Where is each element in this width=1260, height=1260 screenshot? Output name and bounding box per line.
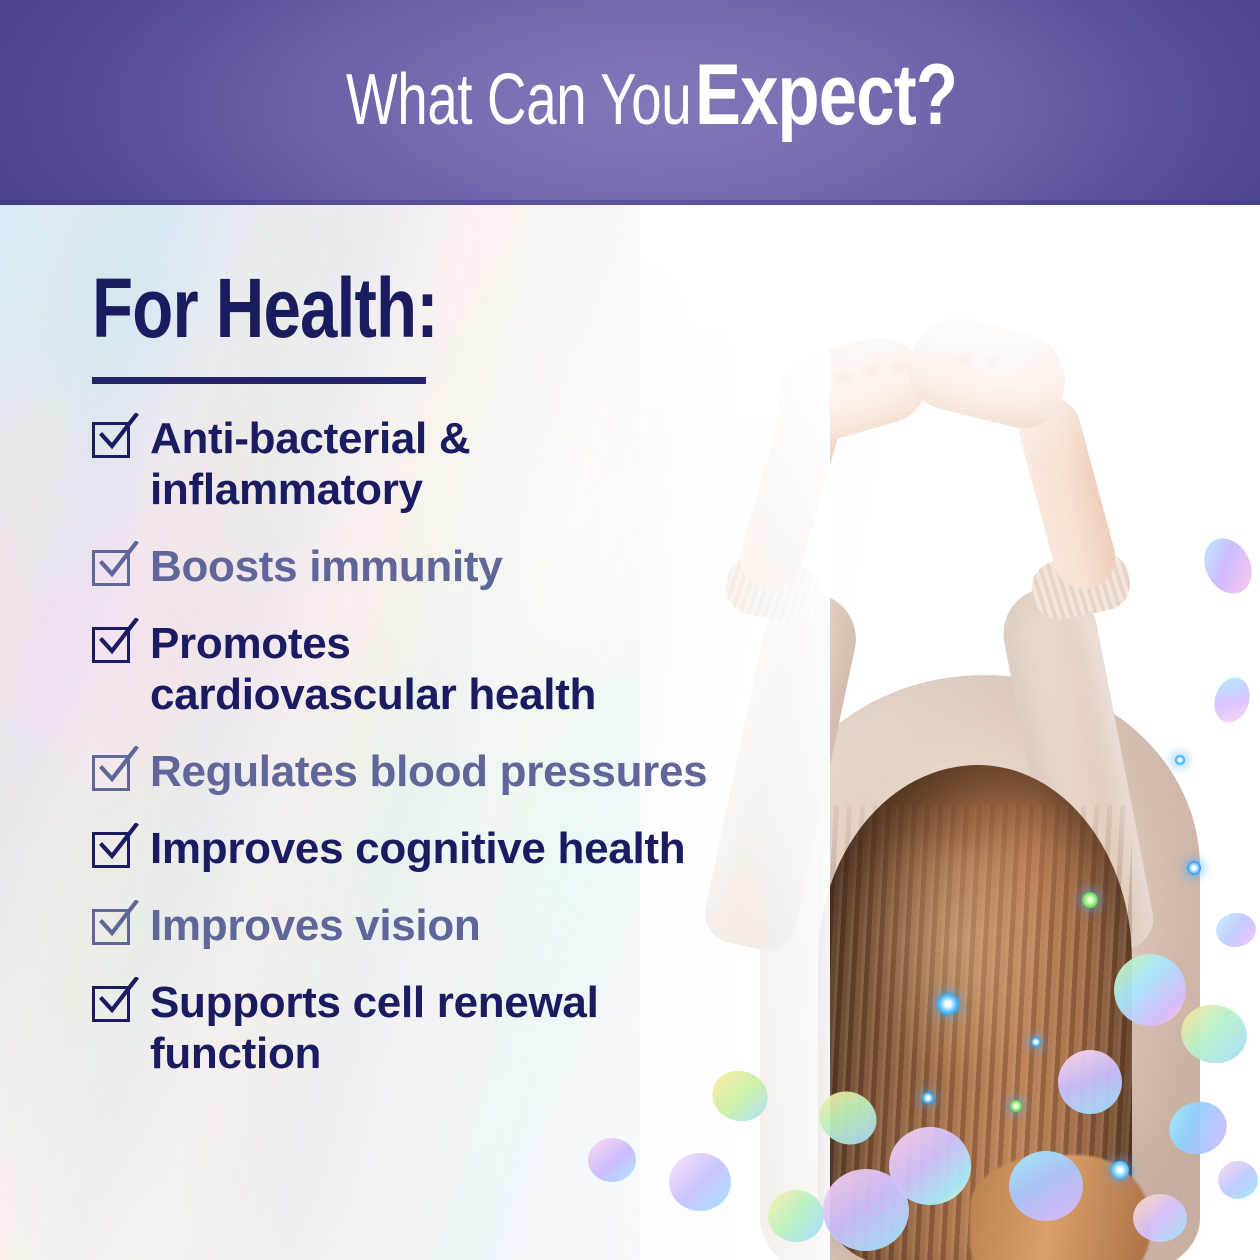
header-banner: What Can YouExpect? [0, 0, 1260, 205]
checked-box-icon[interactable] [92, 627, 130, 663]
benefit-item: Promotes cardiovascular health [92, 618, 792, 720]
benefit-label: Regulates blood pressures [150, 746, 707, 797]
benefit-item: Improves cognitive health [92, 823, 792, 874]
benefits-list: Anti-bacterial & inflammatoryBoosts immu… [92, 413, 792, 1105]
checked-box-icon[interactable] [92, 909, 130, 945]
page-title: What Can YouExpect? [0, 52, 1260, 138]
infographic-poster: What Can YouExpect? [0, 0, 1260, 1260]
section-heading-underline [92, 377, 426, 384]
page-title-bold: Expect? [695, 52, 957, 138]
hair-tail [970, 1155, 1150, 1260]
benefit-label: Boosts immunity [150, 541, 502, 592]
checked-box-icon[interactable] [92, 550, 130, 586]
benefit-item: Boosts immunity [92, 541, 792, 592]
benefit-label: Improves cognitive health [150, 823, 685, 874]
checked-box-icon[interactable] [92, 422, 130, 458]
section-heading-wrap: For Health: [92, 268, 492, 349]
checked-box-icon[interactable] [92, 986, 130, 1022]
page-title-light: What Can You [346, 64, 691, 136]
body-area: For Health: Anti-bacterial & inflammator… [0, 205, 1260, 1260]
benefit-item: Supports cell renewal function [92, 977, 792, 1079]
benefit-label: Supports cell renewal function [150, 977, 599, 1079]
checked-box-icon[interactable] [92, 832, 130, 868]
benefit-item: Anti-bacterial & inflammatory [92, 413, 792, 515]
benefit-item: Improves vision [92, 900, 792, 951]
benefit-label: Promotes cardiovascular health [150, 618, 596, 720]
hair-highlight [870, 845, 1050, 1085]
benefit-label: Improves vision [150, 900, 481, 951]
benefit-label: Anti-bacterial & inflammatory [150, 413, 470, 515]
checked-box-icon[interactable] [92, 755, 130, 791]
benefit-item: Regulates blood pressures [92, 746, 792, 797]
benefits-content: For Health: Anti-bacterial & inflammator… [0, 205, 760, 1260]
section-heading: For Health: [92, 268, 412, 349]
